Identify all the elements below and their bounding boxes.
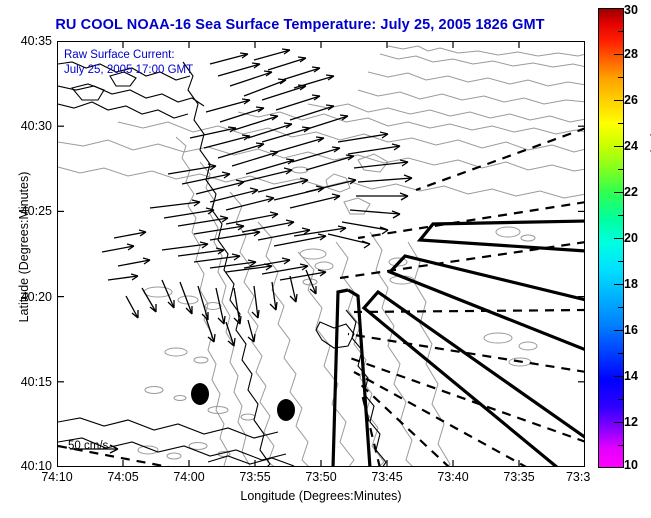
colorbar-minor-tick	[618, 353, 624, 354]
xtick-label: 73:35	[503, 470, 534, 484]
colorbar-minor-tick	[618, 261, 624, 262]
xtick-label: 73:45	[371, 470, 402, 484]
colorbar-tickmark	[614, 422, 624, 423]
colorbar-tickmark	[614, 146, 624, 147]
colorbar-tickmark	[614, 284, 624, 285]
colorbar-tick-label: 14	[624, 369, 638, 383]
colorbar-tick-label: 30	[624, 3, 638, 17]
xtick-label: 73:55	[239, 470, 270, 484]
ytick-label: 40:10	[21, 459, 52, 473]
colorbar-tickmark	[614, 238, 624, 239]
colorbar-minor-tick	[618, 31, 624, 32]
colorbar-minor-tick	[618, 123, 624, 124]
colorbar-minor-tick	[618, 169, 624, 170]
ytick-label: 40:30	[21, 119, 52, 133]
xtick-label: 74:05	[107, 470, 138, 484]
xtick-label: 73:40	[437, 470, 468, 484]
colorbar-tick-label: 22	[624, 185, 638, 199]
colorbar-tickmark	[614, 467, 624, 468]
colorbar-tickmark	[614, 54, 624, 55]
sst-map-figure: RU COOL NOAA-16 Sea Surface Temperature:…	[0, 0, 651, 518]
x-axis-label: Longitude (Degrees:Minutes)	[57, 489, 585, 503]
xtick-label: 73:50	[305, 470, 336, 484]
colorbar-minor-tick	[618, 215, 624, 216]
colorbar-tick-label: 20	[624, 231, 638, 245]
ytick-label: 40:15	[21, 375, 52, 389]
xtick-label: 73:3	[566, 470, 590, 484]
xtick-label: 74:00	[173, 470, 204, 484]
ytick-label: 40:35	[21, 34, 52, 48]
colorbar-tickmark	[614, 100, 624, 101]
colorbar-tickmark	[614, 330, 624, 331]
colorbar-tick-label: 24	[624, 139, 638, 153]
colorbar-tick-label: 18	[624, 277, 638, 291]
axis-tick-marks	[57, 41, 585, 467]
colorbar-tick-label: 26	[624, 93, 638, 107]
colorbar-tickmark	[614, 192, 624, 193]
colorbar-minor-tick	[618, 77, 624, 78]
colorbar-tick-label: 12	[624, 415, 638, 429]
colorbar-minor-tick	[618, 307, 624, 308]
y-axis-label: Latitude (Degrees:Minutes)	[17, 147, 31, 347]
colorbar-minor-tick	[618, 399, 624, 400]
colorbar-tickmark	[614, 376, 624, 377]
figure-title: RU COOL NOAA-16 Sea Surface Temperature:…	[0, 17, 600, 33]
colorbar-tick-label: 28	[624, 47, 638, 61]
colorbar-tickmark	[614, 8, 624, 9]
colorbar-minor-tick	[618, 445, 624, 446]
colorbar-tick-label: 16	[624, 323, 638, 337]
colorbar-tick-label: 10	[624, 458, 638, 472]
